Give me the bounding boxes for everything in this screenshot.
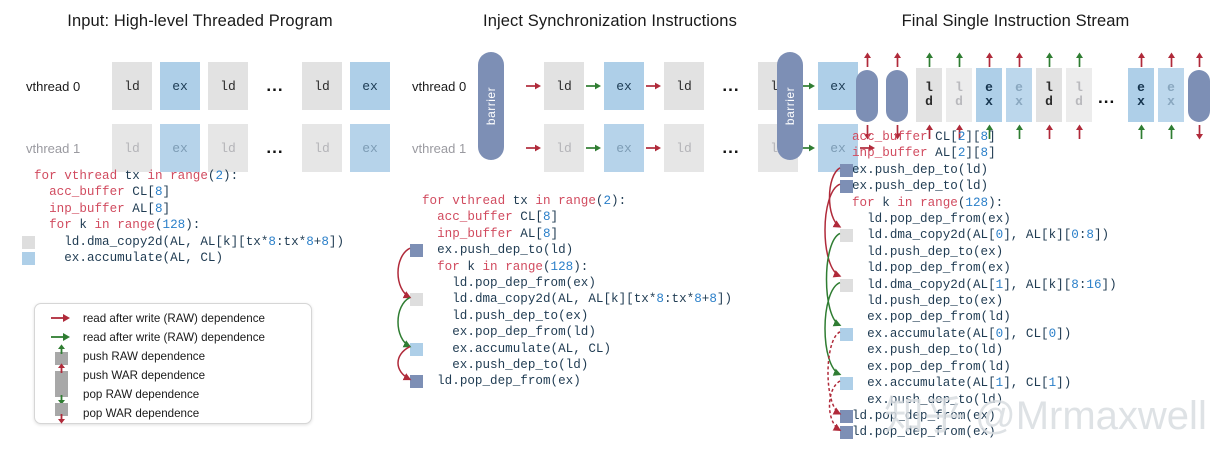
code-line: ld.pop_dep_from(ex) [422, 373, 732, 389]
code-line: ld.push_dep_to(ex) [852, 244, 1117, 260]
code-line: inp_buffer AL[2][8] [852, 145, 1117, 161]
raw-arrow-red-icon [646, 81, 662, 91]
barrier-pill [1188, 70, 1210, 122]
code-line: inp_buffer AL[8] [422, 226, 732, 242]
code-line: ld.pop_dep_from(ex) [852, 260, 1117, 276]
dep-arrow-up-icon [1137, 124, 1146, 140]
code-line: ex.pop_dep_from(ld) [852, 309, 1117, 325]
instruction-block-ld: ld [208, 62, 248, 110]
arrow-right-red-icon [41, 308, 83, 328]
instruction-block-ld: ld [208, 124, 248, 172]
dep-arrow-up-icon [1167, 52, 1176, 68]
code-line: ex.push_dep_to(ld) [852, 162, 1117, 178]
code-line: acc_buffer CL[8] [422, 209, 732, 225]
block-char: x [1167, 95, 1175, 109]
stream-block-ex: ex [1006, 68, 1032, 122]
stream-block-ex: ex [1128, 68, 1154, 122]
block-char: d [1045, 95, 1053, 109]
legend-box: read after write (RAW) dependenceread af… [34, 303, 312, 424]
dep-arrow-up-icon [1015, 52, 1024, 68]
code-line: for vthread tx in range(2): [34, 168, 344, 184]
code-line: ex.push_dep_to(ld) [422, 357, 732, 373]
ellipsis: ... [256, 138, 294, 158]
instruction-block-ex: ex [350, 62, 390, 110]
dep-arrow-up-icon [925, 52, 934, 68]
code-line: ex.push_dep_to(ld) [422, 242, 732, 258]
dependence-arrows [384, 191, 424, 408]
instruction-block-ld: ld [302, 124, 342, 172]
block-char: e [985, 81, 993, 95]
ellipsis: ... [712, 138, 750, 158]
legend-label: pop RAW dependence [83, 388, 199, 401]
code-line: ex.accumulate(AL[0], CL[0]) [852, 326, 1117, 342]
code-line: ld.pop_dep_from(ex) [852, 211, 1117, 227]
raw-arrow-red-icon [646, 143, 662, 153]
code-line: ld.pop_dep_from(ex) [852, 424, 1117, 440]
panel-input: Input: High-level Threaded Program vthre… [0, 0, 400, 457]
thread-row: vthread 1ldexld...ldex [26, 124, 398, 172]
stream-block-ld: ld [946, 68, 972, 122]
war-arrow-up-icon [863, 52, 872, 68]
dep-arrow-up-icon [1137, 52, 1146, 68]
push-war-icon [41, 365, 83, 385]
panel-inject: Inject Synchronization Instructions vthr… [400, 0, 820, 457]
code-line: ld.dma_copy2d(AL, AL[k][tx*8:tx*8+8]) [34, 234, 344, 250]
war-arrow-down-icon [1195, 124, 1204, 140]
code-line: for k in range(128): [852, 195, 1117, 211]
legend-item: read after write (RAW) dependence [41, 308, 265, 328]
gutter-marker-ex [22, 252, 35, 265]
pop-war-icon [41, 403, 83, 423]
war-arrow-up-icon [893, 52, 902, 68]
code-line: ld.pop_dep_from(ex) [422, 275, 732, 291]
war-arrow-up-icon [1195, 52, 1204, 68]
input-code-block: for vthread tx in range(2): acc_buffer C… [34, 168, 344, 266]
push-raw-icon [41, 346, 83, 366]
instruction-block-ex: ex [160, 124, 200, 172]
barrier-pill [886, 70, 908, 122]
barrier-label: barrier [484, 87, 498, 125]
block-char: x [985, 95, 993, 109]
code-line: ld.push_dep_to(ex) [852, 293, 1117, 309]
gutter-marker-ld [22, 236, 35, 249]
block-char: d [1075, 95, 1083, 109]
barrier-left: barrier [478, 52, 504, 160]
instruction-block-ex: ex [604, 62, 644, 110]
code-line: ex.pop_dep_from(ld) [422, 324, 732, 340]
dependence-arrows [814, 127, 854, 459]
legend-item: push RAW dependence [41, 346, 205, 366]
instruction-block-ex: ex [160, 62, 200, 110]
dep-arrow-up-icon [1045, 52, 1054, 68]
legend-label: read after write (RAW) dependence [83, 331, 265, 344]
block-char: l [955, 81, 963, 95]
code-line: acc_buffer CL[2][8] [852, 129, 1117, 145]
ellipsis: ... [256, 76, 294, 96]
instruction-block-ld: ld [302, 62, 342, 110]
instruction-block-ex: ex [604, 124, 644, 172]
code-line: ld.dma_copy2d(AL[0], AL[k][0:8]) [852, 227, 1117, 243]
code-line: ex.accumulate(AL, CL) [34, 250, 344, 266]
stream-block-ex: ex [1158, 68, 1184, 122]
code-line: for vthread tx in range(2): [422, 193, 732, 209]
instruction-block-ld: ld [664, 124, 704, 172]
legend-label: pop WAR dependence [83, 407, 199, 420]
code-line: ex.accumulate(AL[1], CL[1]) [852, 375, 1117, 391]
block-char: d [955, 95, 963, 109]
panel-inject-title: Inject Synchronization Instructions [400, 12, 820, 31]
thread-label: vthread 0 [26, 79, 112, 94]
code-line: ex.push_dep_to(ld) [852, 392, 1117, 408]
raw-arrow-red-icon [526, 81, 542, 91]
code-line: ld.pop_dep_from(ex) [852, 408, 1117, 424]
instruction-block-ld: ld [112, 124, 152, 172]
block-char: l [1045, 81, 1053, 95]
legend-item: pop WAR dependence [41, 403, 199, 423]
code-line: for k in range(128): [422, 259, 732, 275]
legend-label: read after write (RAW) dependence [83, 312, 265, 325]
legend-label: push RAW dependence [83, 350, 205, 363]
code-line: ld.dma_copy2d(AL, AL[k][tx*8:tx*8+8]) [422, 291, 732, 307]
ellipsis: ... [1098, 88, 1115, 108]
ellipsis: ... [712, 76, 750, 96]
final-code-block: acc_buffer CL[2][8]inp_buffer AL[2][8]ex… [852, 129, 1117, 441]
inject-code-block: for vthread tx in range(2): acc_buffer C… [422, 193, 732, 390]
legend-item: push WAR dependence [41, 365, 205, 385]
stream-block-ld: ld [1066, 68, 1092, 122]
block-char: e [1015, 81, 1023, 95]
barrier-pill [856, 70, 878, 122]
pop-raw-icon [41, 384, 83, 404]
thread-row: vthread 0ldexld...ldex [26, 62, 398, 110]
instruction-block-ld: ld [544, 124, 584, 172]
block-char: e [1137, 81, 1145, 95]
panel-final-title: Final Single Instruction Stream [820, 12, 1211, 31]
code-line: ex.pop_dep_from(ld) [852, 359, 1117, 375]
block-char: x [1015, 95, 1023, 109]
code-line: inp_buffer AL[8] [34, 201, 344, 217]
legend-item: pop RAW dependence [41, 384, 199, 404]
raw-arrow-green-icon [586, 143, 602, 153]
panel-input-title: Input: High-level Threaded Program [0, 12, 400, 31]
stream-block-ld: ld [1036, 68, 1062, 122]
code-line: ld.dma_copy2d(AL[1], AL[k][8:16]) [852, 277, 1117, 293]
stream-block-ld: ld [916, 68, 942, 122]
block-char: l [925, 81, 933, 95]
dep-arrow-up-icon [1075, 52, 1084, 68]
code-line: ld.push_dep_to(ex) [422, 308, 732, 324]
panel-final: Final Single Instruction Stream ldldexex… [820, 0, 1211, 457]
code-line: for k in range(128): [34, 217, 344, 233]
block-char: x [1137, 95, 1145, 109]
dep-arrow-up-icon [1167, 124, 1176, 140]
instruction-block-ld: ld [664, 62, 704, 110]
dep-arrow-up-icon [955, 52, 964, 68]
stream-block-ex: ex [976, 68, 1002, 122]
legend-item: read after write (RAW) dependence [41, 327, 265, 347]
block-char: l [1075, 81, 1083, 95]
arrow-right-green-icon [41, 327, 83, 347]
dep-arrow-up-icon [985, 52, 994, 68]
raw-arrow-green-icon [586, 81, 602, 91]
thread-label: vthread 1 [26, 141, 112, 156]
block-char: d [925, 95, 933, 109]
barrier-right: barrier [777, 52, 803, 160]
block-char: e [1167, 81, 1175, 95]
instruction-block-ld: ld [544, 62, 584, 110]
raw-arrow-red-icon [526, 143, 542, 153]
code-line: acc_buffer CL[8] [34, 184, 344, 200]
code-line: ex.accumulate(AL, CL) [422, 341, 732, 357]
code-line: ex.push_dep_to(ld) [852, 342, 1117, 358]
barrier-label: barrier [783, 87, 797, 125]
instruction-block-ld: ld [112, 62, 152, 110]
code-line: ex.push_dep_to(ld) [852, 178, 1117, 194]
instruction-block-ex: ex [350, 124, 390, 172]
legend-label: push WAR dependence [83, 369, 205, 382]
